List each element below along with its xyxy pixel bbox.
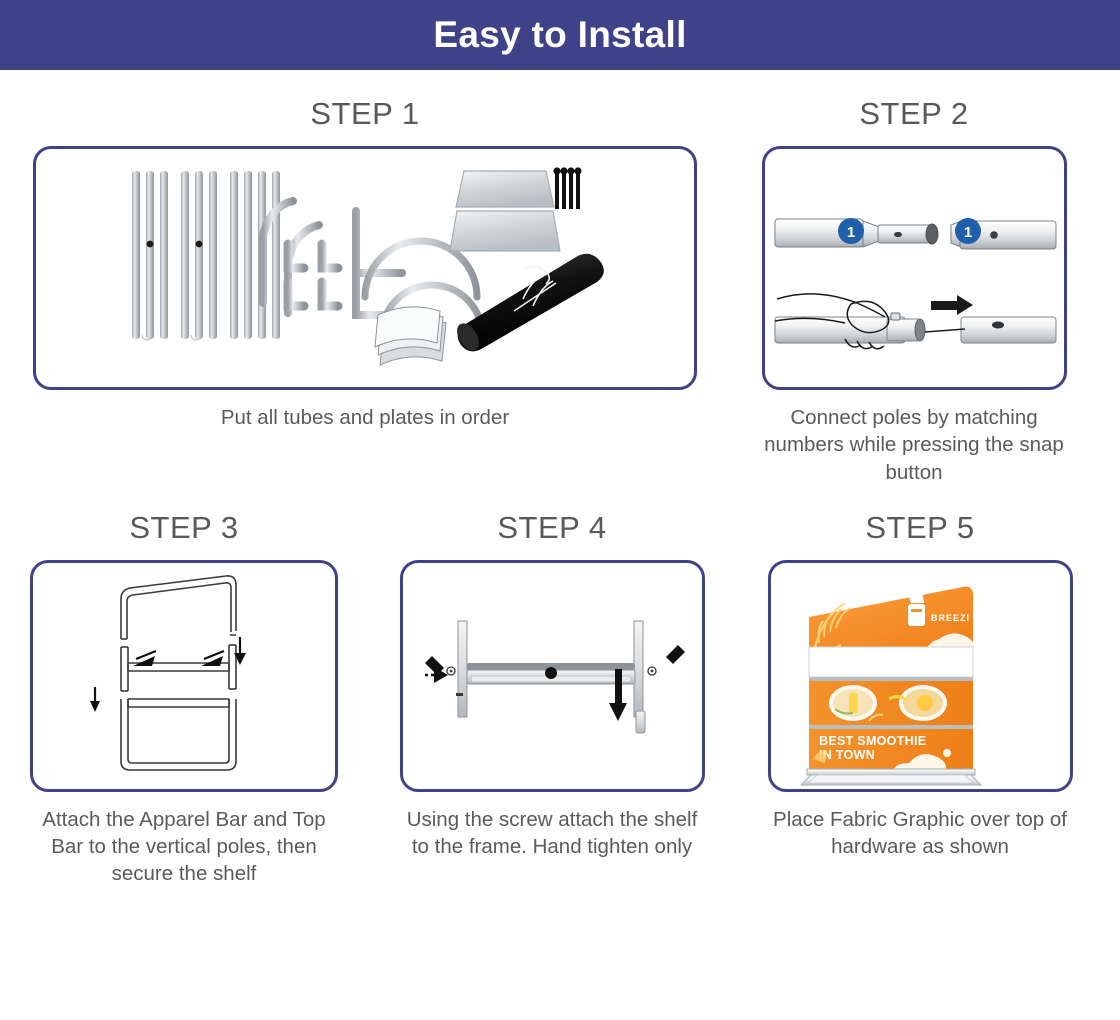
header-banner: Easy to Install [0, 0, 1120, 70]
step-1-caption: Put all tubes and plates in order [221, 404, 509, 431]
step-5-illustration: BREEZI [768, 560, 1073, 792]
numbered-pole-left: 1 [775, 218, 938, 247]
step-3-illustration [30, 560, 338, 792]
page-title: Easy to Install [433, 14, 686, 56]
step-5-caption: Place Fabric Graphic over top of hardwar… [770, 806, 1070, 861]
pole-badge-1: 1 [846, 224, 854, 241]
shelf-plate [467, 663, 635, 684]
step-card-1: STEP 1 [0, 96, 730, 486]
step-4-illustration [400, 560, 705, 792]
pole-badge-2: 1 [963, 224, 971, 241]
step-card-5: STEP 5 [736, 510, 1104, 888]
step-3-caption: Attach the Apparel Bar and Top Bar to th… [34, 806, 334, 888]
step-1-title: STEP 1 [310, 96, 419, 132]
insert-arrow [931, 295, 973, 315]
numbered-pole-right: 1 [951, 218, 1056, 249]
step-card-4: STEP 4 [368, 510, 736, 888]
direction-arrows [90, 637, 246, 712]
vertical-poles-upper [121, 645, 236, 691]
steps-row-bottom: STEP 3 [0, 486, 1120, 888]
receiving-pole [925, 317, 1056, 343]
straight-tubes-group [132, 171, 280, 340]
right-pole [634, 621, 656, 733]
step-4-title: STEP 4 [497, 510, 606, 546]
step-card-3: STEP 3 [0, 510, 368, 888]
base-plates-group [450, 171, 560, 251]
steps-row-top: STEP 1 [0, 70, 1120, 486]
step-1-illustration [33, 146, 697, 390]
brand-name: BREEZI [931, 613, 970, 623]
step-card-2: STEP 2 [730, 96, 1098, 486]
step-5-title: STEP 5 [865, 510, 974, 546]
step-2-illustration: 1 1 [762, 146, 1067, 390]
step-2-caption: Connect poles by matching numbers while … [764, 404, 1064, 486]
hand-pressing-snap-button [775, 294, 925, 349]
step-3-title: STEP 3 [129, 510, 238, 546]
step-2-title: STEP 2 [859, 96, 968, 132]
screws-group [553, 167, 581, 209]
headline-line-2: IN TOWN [819, 748, 875, 762]
fabric-panels-group [375, 307, 446, 365]
shelf-frame [121, 699, 236, 770]
left-pole [447, 621, 467, 717]
step-4-caption: Using the screw attach the shelf to the … [402, 806, 702, 861]
headline-line-1: BEST SMOOTHIE [819, 734, 926, 748]
corner-connectors-group [288, 244, 338, 306]
fabric-graphic: BREEZI [809, 586, 974, 770]
display-stand [801, 769, 981, 785]
top-bar [121, 576, 236, 639]
